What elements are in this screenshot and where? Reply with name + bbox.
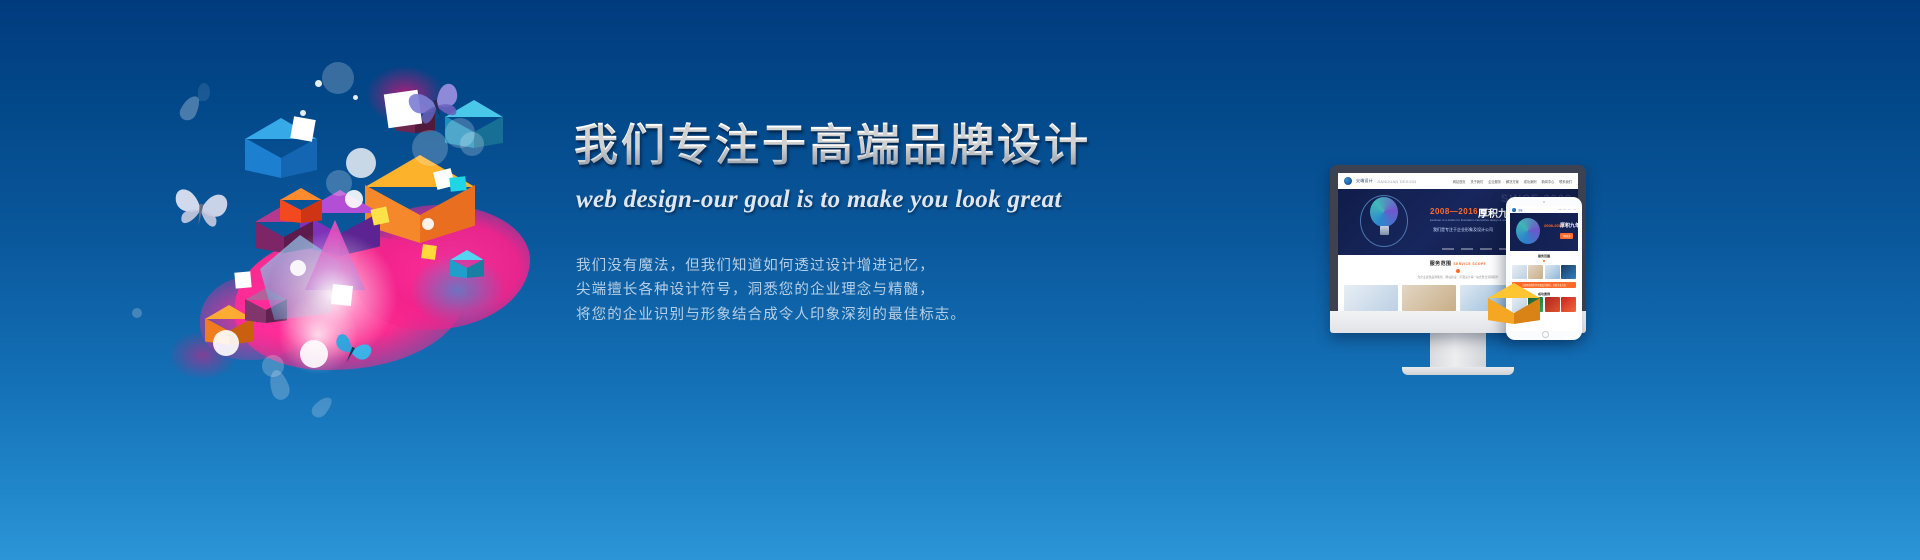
phone-section-marker <box>1543 260 1546 263</box>
lightbulb-base <box>1380 226 1389 235</box>
orange-3d-cube <box>1488 283 1540 339</box>
mock-nav-item: 新闻中心 <box>1542 179 1555 184</box>
cube-top-face <box>1488 283 1540 298</box>
monitor-stand-foot <box>1402 367 1514 375</box>
mock-hero-subtext: jianduan is a studio for illustration in… <box>1430 218 1515 222</box>
cube-left-face <box>1488 298 1514 324</box>
mock-nav-item: 成功案例 <box>1524 179 1537 184</box>
phone-hero-button: 了解更多 <box>1560 233 1573 239</box>
mock-site-header: 尖端设计 JIANDUAN DESIGN 网站首页 关于我们 企业服务 解决方案… <box>1338 173 1578 189</box>
phone-nav-line <box>1558 209 1561 210</box>
phone-hero-banner: 2008-2016 厚积九年 了解更多 <box>1510 213 1578 251</box>
banner-description: 我们没有魔法，但我们知道如何透过设计增进记忆， 尖端擅长各种设计符号，洞悉您的企… <box>576 254 1134 328</box>
description-line-3: 将您的企业识别与形象结合成令人印象深刻的最佳标志。 <box>576 303 1134 328</box>
mock-hero-dot <box>1442 248 1454 250</box>
phone-lightbulb-icon <box>1516 218 1540 244</box>
phone-section-header: 服务范围 <box>1510 251 1578 265</box>
description-line-2: 尖端擅长各种设计符号，洞悉您的企业理念与精髓， <box>576 278 1134 303</box>
hero-banner: 我们专注于高端品牌设计 web design-our goal is to ma… <box>0 0 1920 560</box>
lightbulb-network <box>1360 195 1408 247</box>
phone-logo-icon <box>1512 208 1516 212</box>
phone-nav-line <box>1573 209 1576 210</box>
mock-site-nav: 网站首页 关于我们 企业服务 解决方案 成功案例 新闻中心 联系我们 <box>1453 179 1572 184</box>
phone-nav-lines <box>1558 209 1576 210</box>
mock-thumbnail <box>1402 285 1456 311</box>
phone-case-thumb <box>1561 297 1576 312</box>
mock-logo-subtext: JIANDUAN DESIGN <box>1377 179 1416 184</box>
mock-logo-text: 尖端设计 <box>1356 178 1373 184</box>
abstract-artwork <box>150 40 610 490</box>
mock-hero-dot <box>1461 248 1473 250</box>
mock-hero-dot <box>1480 248 1492 250</box>
page-subtitle: web design-our goal is to make you look … <box>576 186 1134 214</box>
mock-nav-item: 企业服务 <box>1488 179 1501 184</box>
cube-right-face <box>1514 298 1540 324</box>
page-title: 我们专注于高端品牌设计 <box>574 120 1134 172</box>
phone-card <box>1561 265 1576 279</box>
bokeh-16 <box>132 308 142 318</box>
phone-home-button <box>1542 331 1549 338</box>
device-mockup-group: 尖端设计 JIANDUAN DESIGN 网站首页 关于我们 企业服务 解决方案… <box>1330 165 1650 395</box>
mock-nav-item: 解决方案 <box>1506 179 1519 184</box>
mock-nav-item: 关于我们 <box>1471 179 1484 184</box>
mock-logo-icon <box>1344 177 1352 185</box>
phone-site-header: 尖端 <box>1510 206 1578 213</box>
mock-thumbnail <box>1344 285 1398 311</box>
mock-hero-line: 我们是专注于企业形象及设计公司 <box>1433 227 1493 233</box>
lightbulb-icon <box>1360 195 1408 247</box>
petal-1 <box>177 93 202 123</box>
phone-case-thumb <box>1545 297 1560 312</box>
petal-3 <box>309 393 335 420</box>
phone-card <box>1528 265 1543 279</box>
phone-card <box>1512 265 1527 279</box>
phone-camera-icon <box>1543 201 1546 204</box>
mock-nav-item: 联系我们 <box>1559 179 1572 184</box>
banner-copy: 我们专注于高端品牌设计 web design-our goal is to ma… <box>574 120 1134 327</box>
monitor-stand-neck <box>1430 333 1486 367</box>
phone-section-title: 服务范围 <box>1510 254 1578 258</box>
phone-logo-text: 尖端 <box>1518 208 1522 212</box>
petal-layer <box>150 40 610 490</box>
phone-card <box>1545 265 1560 279</box>
description-line-1: 我们没有魔法，但我们知道如何透过设计增进记忆， <box>576 254 1134 279</box>
petal-2 <box>265 368 292 402</box>
phone-hero-slogan: 厚积九年 <box>1560 222 1578 229</box>
mock-nav-item: 网站首页 <box>1453 179 1466 184</box>
phone-card-grid <box>1510 265 1578 279</box>
mock-section-marker <box>1456 269 1460 273</box>
phone-nav-line <box>1563 209 1566 210</box>
mock-hero-pagination <box>1442 248 1511 250</box>
mock-section-title-en: SERVICE SCOPE <box>1453 262 1486 266</box>
phone-nav-line <box>1568 209 1571 210</box>
mock-section-title-text: 服务范围 <box>1430 261 1452 267</box>
mock-hero-year: 2008—2016 <box>1430 207 1478 216</box>
